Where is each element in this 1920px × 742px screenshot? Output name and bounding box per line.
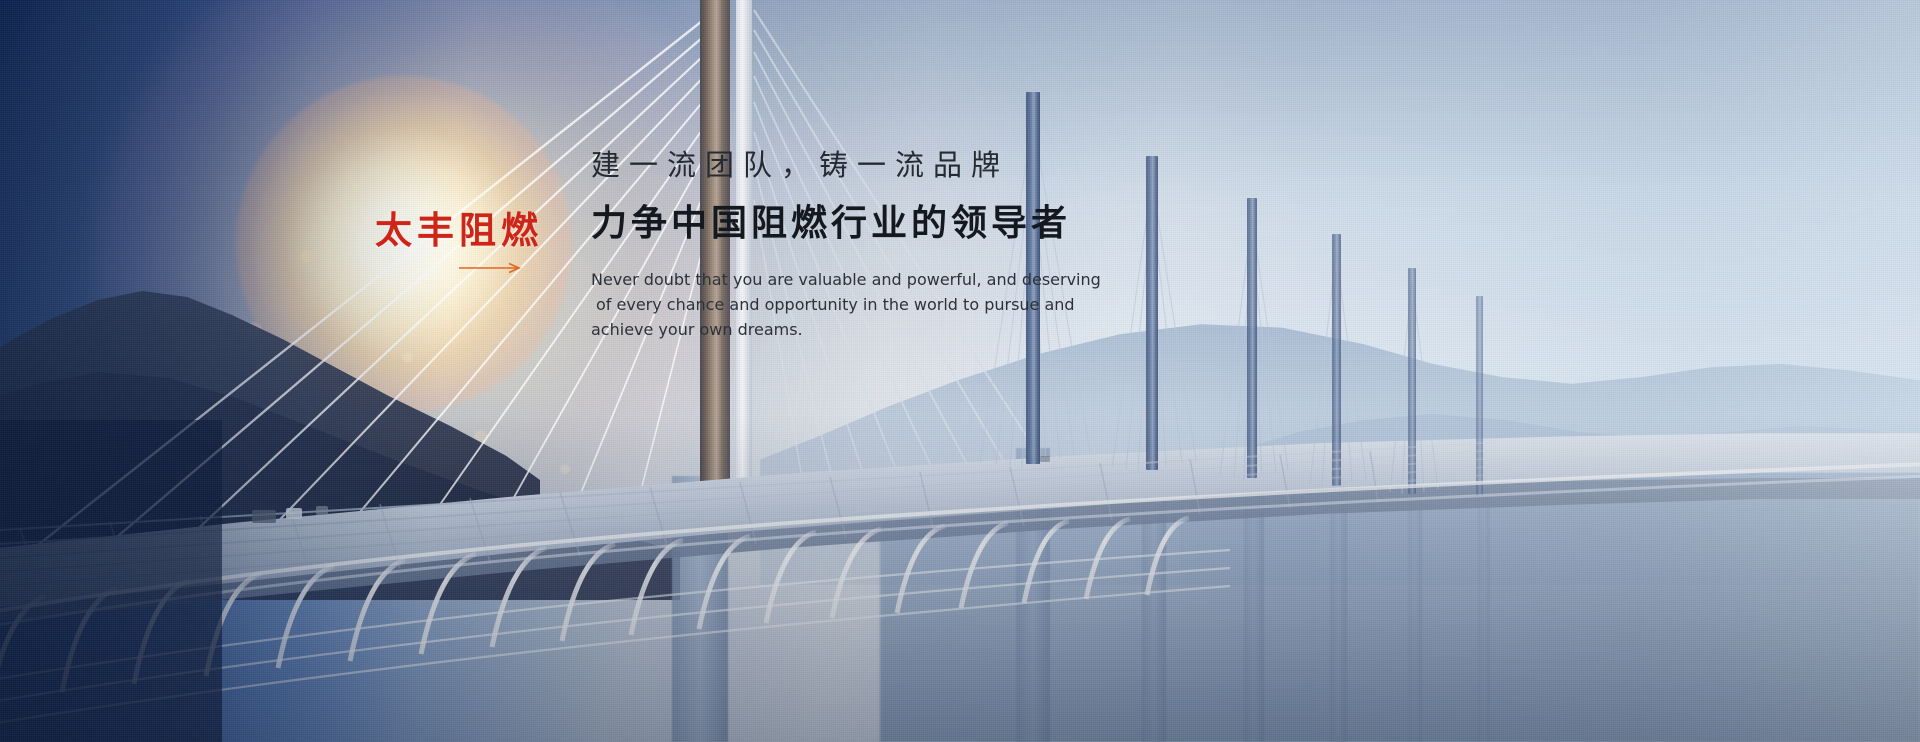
logo-wordmark: 太丰阻燃 bbox=[375, 212, 575, 249]
headline-secondary: 力争中国阻燃行业的领导者 bbox=[591, 204, 1351, 244]
company-logo[interactable]: 太丰阻燃 bbox=[375, 212, 575, 249]
tagline-line: Never doubt that you are valuable and po… bbox=[591, 267, 1061, 292]
banner-content: 太丰阻燃 建一流团队，铸一流品牌 力争中国阻燃行业的领导者 Never doub… bbox=[0, 0, 1920, 742]
arrow-right-icon bbox=[459, 262, 527, 274]
headline-primary: 建一流团队，铸一流品牌 bbox=[591, 150, 1351, 182]
tagline-line: achieve your own dreams. bbox=[591, 317, 1061, 342]
tagline-line: of every chance and opportunity in the w… bbox=[591, 292, 1061, 317]
headline-block: 建一流团队，铸一流品牌 力争中国阻燃行业的领导者 Never doubt tha… bbox=[591, 150, 1351, 342]
tagline-paragraph: Never doubt that you are valuable and po… bbox=[591, 267, 1061, 342]
hero-banner: 太丰阻燃 建一流团队，铸一流品牌 力争中国阻燃行业的领导者 Never doub… bbox=[0, 0, 1920, 742]
